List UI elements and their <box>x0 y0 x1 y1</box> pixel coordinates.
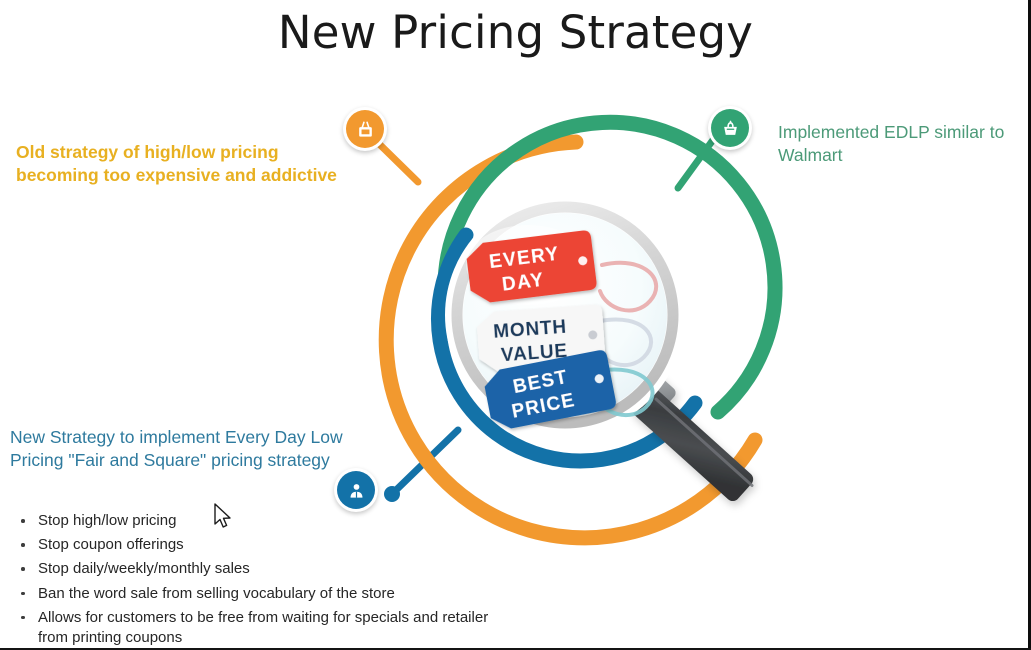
list-item: Ban the word sale from selling vocabular… <box>14 584 494 605</box>
shopping-cart-icon <box>721 119 740 138</box>
page-title: New Pricing Strategy <box>0 8 1031 58</box>
node-old-strategy[interactable] <box>343 107 387 151</box>
node-implemented-edlp[interactable] <box>708 106 752 150</box>
pricing-strategy-graphic: EVERY DAY MONTH VALUE BEST PRICE <box>300 85 830 585</box>
person-icon <box>347 481 366 500</box>
slide-canvas: New Pricing Strategy Old strategy of hig… <box>0 0 1031 650</box>
shopping-basket-icon <box>356 120 375 139</box>
list-item: Allows for customers to be free from wai… <box>14 608 494 649</box>
node-implemented-edlp-disc <box>711 109 749 147</box>
node-new-strategy-disc <box>337 471 375 509</box>
node-new-strategy[interactable] <box>334 468 378 512</box>
node-old-strategy-disc <box>346 110 384 148</box>
